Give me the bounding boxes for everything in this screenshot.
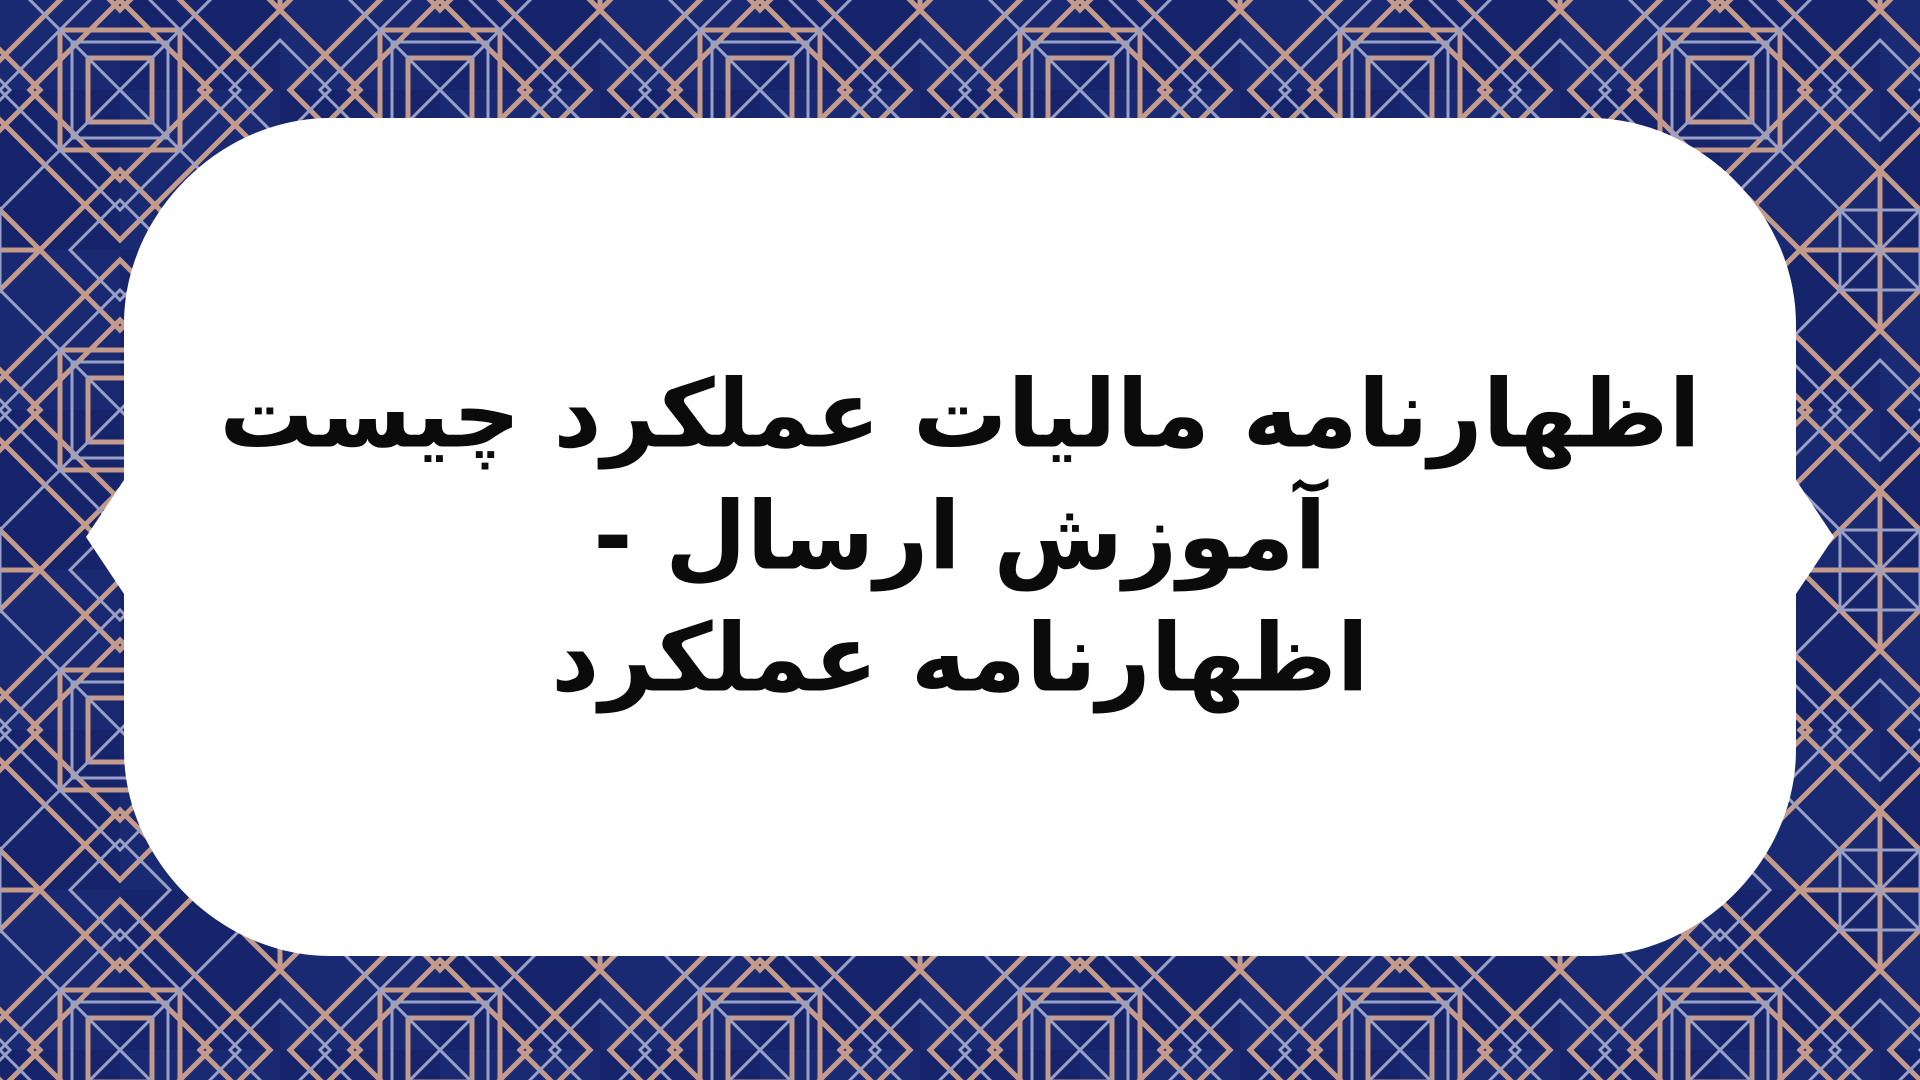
title-line-2: آموزش ارسال - (150, 477, 1770, 599)
poster-canvas: اظهارنامه مالیات عملکرد چیست آموزش ارسال… (0, 0, 1920, 1080)
page-title: اظهارنامه مالیات عملکرد چیست آموزش ارسال… (150, 355, 1770, 722)
title-line-3: اظهارنامه عملکرد (150, 599, 1770, 721)
title-line-1: اظهارنامه مالیات عملکرد چیست (150, 355, 1770, 477)
